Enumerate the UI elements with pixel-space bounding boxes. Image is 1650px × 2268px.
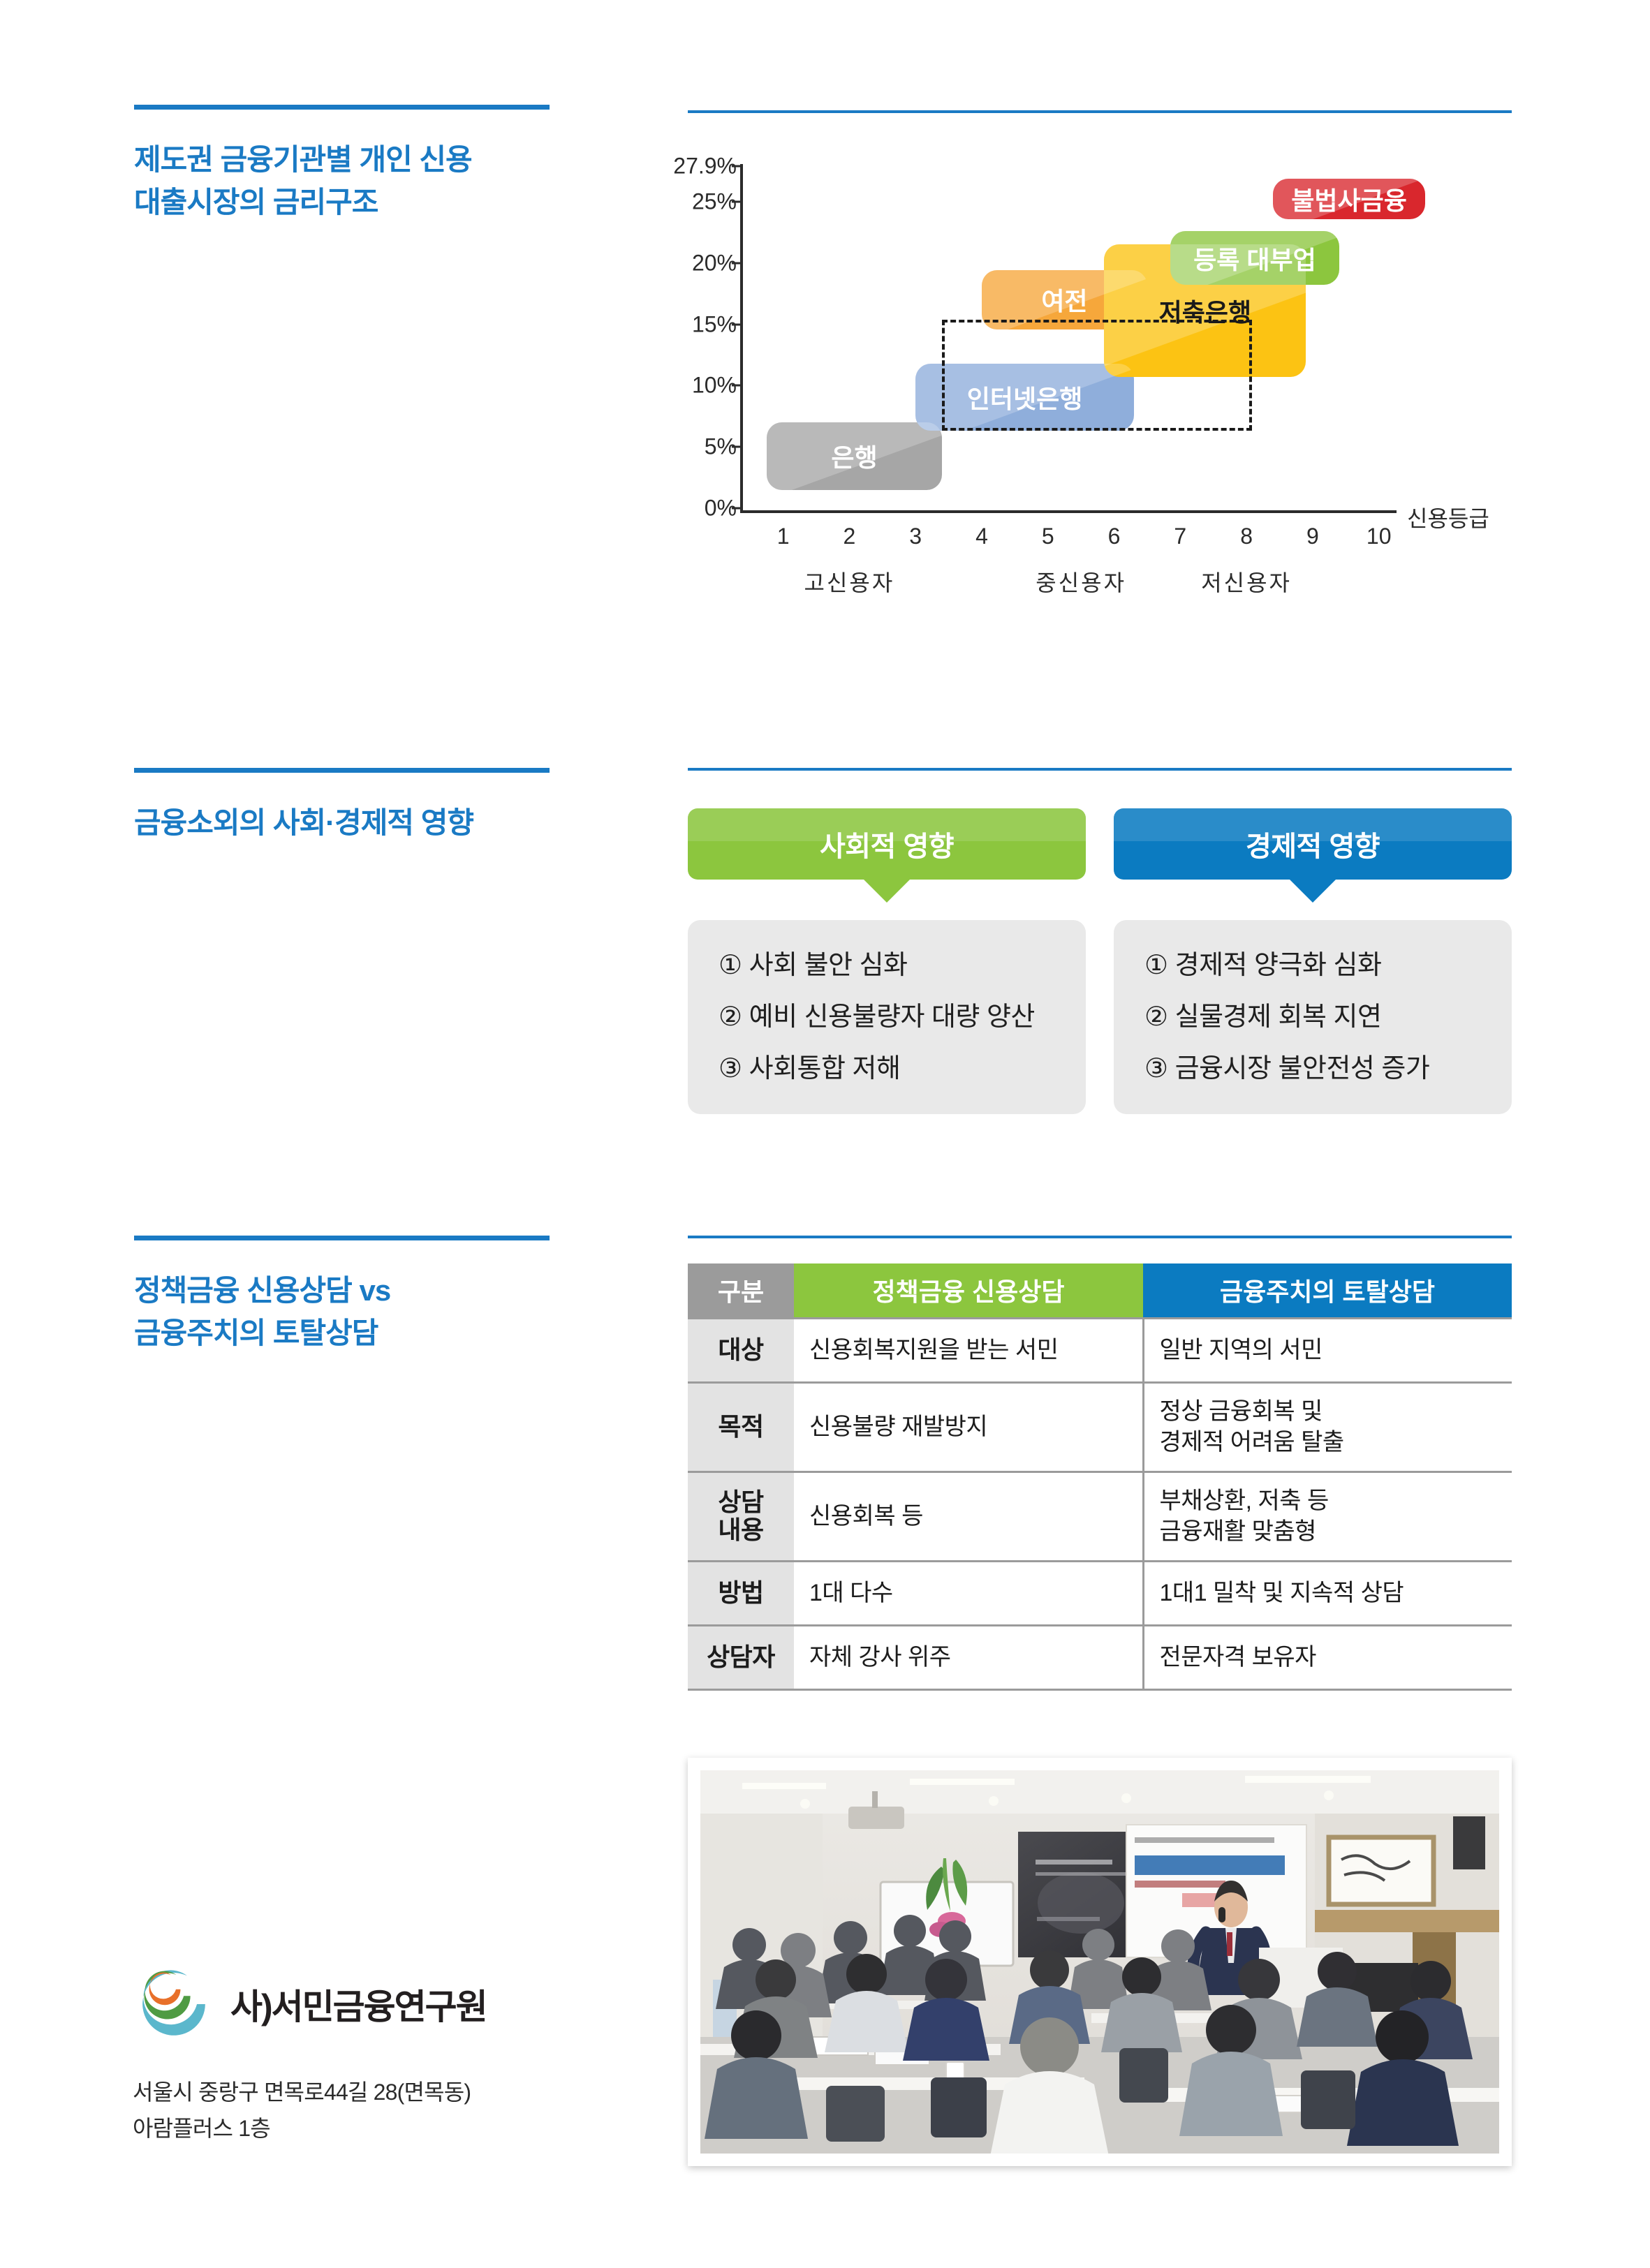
chart-y-tick-label: 10% — [625, 373, 737, 399]
section-2-title: 금융소외의 사회·경제적 영향 — [134, 802, 581, 845]
footer-block: 사)서민금융연구원 서울시 중랑구 면목로44길 28(면목동) 아람플러스 1… — [133, 1963, 594, 2147]
chart-x-tick-label: 10 — [1367, 524, 1392, 549]
chart-y-tick-label: 20% — [625, 250, 737, 276]
chart-segment-label: 저축은행 — [1159, 292, 1251, 329]
seminar-photo — [700, 1770, 1499, 2154]
cell-line-2: 금융재활 맞춤형 — [1160, 1516, 1512, 1547]
table-row: 상담자 자체 강사 위주 전문자격 보유자 — [688, 1625, 1512, 1689]
section-3-title-line-1: 정책금융 신용상담 vs — [134, 1270, 581, 1312]
chart-x-tick-label: 4 — [975, 524, 988, 549]
seminar-photo-frame — [688, 1758, 1512, 2166]
table-header-row: 구분 정책금융 신용상담 금융주치의 토탈상담 — [688, 1263, 1512, 1318]
comparison-table-block: 구분 정책금융 신용상담 금융주치의 토탈상담 대상 신용회복지원을 받는 서민… — [688, 1236, 1512, 1691]
cell-policy-method: 1대 다수 — [794, 1561, 1143, 1625]
section-1-title: 제도권 금융기관별 개인 신용 대출시장의 금리구조 — [134, 139, 581, 224]
social-impact-item-3: ③ 사회통합 저해 — [719, 1055, 1058, 1082]
chart-segment: 인터넷은행 — [915, 364, 1134, 431]
cell-policy-target: 신용회복지원을 받는 서민 — [794, 1318, 1143, 1382]
chart-x-group-label: 저신용자 — [1201, 565, 1292, 598]
chart-segment: 불법사금융 — [1273, 179, 1425, 219]
chart-x-axis — [740, 510, 1397, 513]
chart-y-tick-label: 27.9% — [625, 154, 737, 179]
chart-x-tick-label: 7 — [1174, 524, 1186, 549]
organization-name: 사)서민금융연구원 — [230, 1979, 487, 2029]
cell-doctor-method: 1대1 밀착 및 지속적 상담 — [1143, 1561, 1512, 1625]
table-row: 방법 1대 다수 1대1 밀착 및 지속적 상담 — [688, 1561, 1512, 1625]
section-1-rule — [134, 105, 550, 110]
cell-doctor-counselor: 전문자격 보유자 — [1143, 1625, 1512, 1689]
chart-x-tick-label: 1 — [777, 524, 790, 549]
cell-doctor-content: 부채상환, 저축 등 금융재활 맞춤형 — [1143, 1472, 1512, 1561]
table-row: 목적 신용불량 재발방지 정상 금융회복 및 경제적 어려움 탈출 — [688, 1382, 1512, 1472]
row-label-line-2: 내용 — [688, 1516, 793, 1544]
row-label-purpose: 목적 — [688, 1382, 794, 1472]
economic-impact-item-1: ① 경제적 양극화 심화 — [1144, 952, 1484, 979]
row-label-content: 상담 내용 — [688, 1472, 794, 1561]
economic-impact-column: 경제적 영향 ① 경제적 양극화 심화 ② 실물경제 회복 지연 ③ 금융시장 … — [1114, 808, 1512, 1114]
row-label-target: 대상 — [688, 1318, 794, 1382]
table-header-doctor: 금융주치의 토탈상담 — [1143, 1263, 1512, 1318]
chart-x-tick-label: 8 — [1240, 524, 1253, 549]
section-2-rule-right — [688, 768, 1512, 771]
section-1-title-line-1: 제도권 금융기관별 개인 신용 — [134, 139, 581, 181]
chart-x-tick-label: 9 — [1306, 524, 1319, 549]
social-impact-column: 사회적 영향 ① 사회 불안 심화 ② 예비 신용불량자 대량 양산 ③ 사회통… — [688, 808, 1086, 1114]
section-3-title: 정책금융 신용상담 vs 금융주치의 토탈상담 — [134, 1270, 581, 1355]
social-impact-heading: 사회적 영향 — [820, 824, 954, 864]
section-3-title-line-2: 금융주치의 토탈상담 — [134, 1312, 581, 1355]
chart-segment: 등록 대부업 — [1170, 231, 1339, 285]
chart-y-tick-label: 15% — [625, 311, 737, 337]
social-impact-header: 사회적 영향 — [688, 808, 1086, 880]
cell-policy-content: 신용회복 등 — [794, 1472, 1143, 1561]
chart-segment-label: 인터넷은행 — [967, 379, 1083, 415]
section-3-title-block: 정책금융 신용상담 vs 금융주치의 토탈상담 — [134, 1236, 581, 1355]
institute-logo-icon — [133, 1963, 215, 2045]
social-impact-item-2: ② 예비 신용불량자 대량 양산 — [719, 1004, 1058, 1030]
chart-plot-area: 은행인터넷은행여전저축은행등록 대부업불법사금융 — [740, 166, 1438, 508]
cell-line-1: 정상 금융회복 및 — [1160, 1396, 1512, 1427]
infographic-page: 제도권 금융기관별 개인 신용 대출시장의 금리구조 신용등급 0%5%10%1… — [0, 0, 1650, 2268]
cell-doctor-purpose: 정상 금융회복 및 경제적 어려움 탈출 — [1143, 1382, 1512, 1472]
chart-y-tick-label: 25% — [625, 188, 737, 214]
row-label-line-1: 상담 — [688, 1488, 793, 1516]
economic-impact-header: 경제적 영향 — [1114, 808, 1512, 880]
section-1-title-block: 제도권 금융기관별 개인 신용 대출시장의 금리구조 — [134, 105, 581, 224]
chart-x-group-label: 중신용자 — [1036, 565, 1126, 598]
row-label-method: 방법 — [688, 1561, 794, 1625]
cell-line-2: 경제적 어려움 탈출 — [1160, 1427, 1512, 1458]
organization-logo-row: 사)서민금융연구원 — [133, 1963, 594, 2045]
section-3-rule-right — [688, 1236, 1512, 1238]
economic-impact-item-2: ② 실물경제 회복 지연 — [1144, 1004, 1484, 1030]
interest-rate-chart: 신용등급 0%5%10%15%20%25%27.9% 12345678910 고… — [688, 105, 1512, 663]
table-row: 대상 신용회복지원을 받는 서민 일반 지역의 서민 — [688, 1318, 1512, 1382]
section-3-rule — [134, 1236, 550, 1240]
chart-y-tick-label: 5% — [625, 434, 737, 460]
section-2-title-block: 금융소외의 사회·경제적 영향 — [134, 768, 581, 845]
chart-segment-label: 등록 대부업 — [1193, 240, 1316, 276]
chart-segment: 은행 — [767, 422, 942, 490]
chart-x-tick-label: 5 — [1042, 524, 1054, 549]
social-impact-item-1: ① 사회 불안 심화 — [719, 952, 1058, 979]
economic-impact-arrow-icon — [1290, 880, 1336, 903]
chart-segment-label: 은행 — [831, 438, 877, 474]
organization-address: 서울시 중랑구 면목로44길 28(면목동) 아람플러스 1층 — [133, 2075, 594, 2147]
social-impact-arrow-icon — [864, 880, 910, 903]
economic-impact-item-3: ③ 금융시장 불안전성 증가 — [1144, 1055, 1484, 1082]
chart-x-tick-label: 2 — [843, 524, 855, 549]
table-row: 상담 내용 신용회복 등 부채상환, 저축 등 금융재활 맞춤형 — [688, 1472, 1512, 1561]
address-line-2: 아람플러스 1층 — [133, 2111, 594, 2147]
cell-policy-counselor: 자체 강사 위주 — [794, 1625, 1143, 1689]
cell-policy-purpose: 신용불량 재발방지 — [794, 1382, 1143, 1472]
cell-line-1: 부채상환, 저축 등 — [1160, 1485, 1512, 1516]
table-header-policy: 정책금융 신용상담 — [794, 1263, 1143, 1318]
social-impact-body: ① 사회 불안 심화 ② 예비 신용불량자 대량 양산 ③ 사회통합 저해 — [688, 920, 1086, 1114]
section-2-rule — [134, 768, 550, 773]
chart-x-tick-label: 6 — [1108, 524, 1121, 549]
row-label-counselor: 상담자 — [688, 1625, 794, 1689]
cell-doctor-target: 일반 지역의 서민 — [1143, 1318, 1512, 1382]
economic-impact-body: ① 경제적 양극화 심화 ② 실물경제 회복 지연 ③ 금융시장 불안전성 증가 — [1114, 920, 1512, 1114]
section-1-title-line-2: 대출시장의 금리구조 — [134, 181, 581, 224]
comparison-table: 구분 정책금융 신용상담 금융주치의 토탈상담 대상 신용회복지원을 받는 서민… — [688, 1263, 1512, 1691]
chart-y-tick-label: 0% — [625, 496, 737, 521]
table-header-gubun: 구분 — [688, 1263, 794, 1318]
chart-segment-label: 불법사금융 — [1291, 181, 1407, 217]
address-line-1: 서울시 중랑구 면목로44길 28(면목동) — [133, 2075, 594, 2111]
chart-segment-label: 여전 — [1041, 281, 1087, 318]
economic-impact-heading: 경제적 영향 — [1246, 824, 1380, 864]
chart-x-tick-label: 3 — [909, 524, 922, 549]
chart-x-group-label: 고신용자 — [804, 565, 895, 598]
